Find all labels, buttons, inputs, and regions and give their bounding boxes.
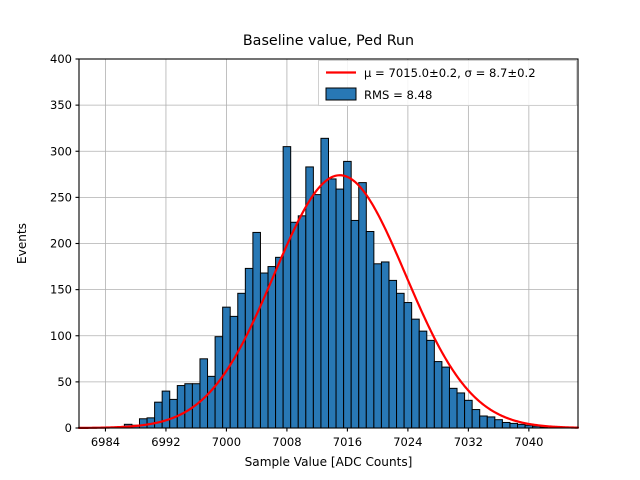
chart-figure: 69846992700070087016702470327040 0501001… <box>0 0 640 480</box>
x-tick-label: 7008 <box>272 435 301 449</box>
x-axis-label: Sample Value [ADC Counts] <box>245 455 413 469</box>
histogram-bar <box>155 402 163 428</box>
x-tick-label: 7040 <box>514 435 543 449</box>
histogram-bar <box>162 391 170 428</box>
x-tick-label: 7016 <box>333 435 362 449</box>
histogram-bar <box>253 232 261 428</box>
histogram-bar <box>457 393 465 428</box>
histogram-bar <box>480 416 488 428</box>
histogram-bar <box>170 399 178 428</box>
histogram-bar <box>185 384 193 428</box>
legend-label-gaussian: μ = 7015.0±0.2, σ = 8.7±0.2 <box>364 66 536 80</box>
histogram-bar <box>472 410 480 428</box>
legend-patch-marker-icon <box>326 88 356 100</box>
histogram-bar <box>230 316 238 428</box>
histogram-bar <box>336 189 344 428</box>
histogram-bar <box>359 183 367 428</box>
histogram-bar <box>381 262 389 428</box>
histogram-bar <box>502 422 510 428</box>
histogram-bar <box>268 267 276 428</box>
histogram-bar <box>434 362 442 428</box>
histogram-bar <box>487 417 495 428</box>
x-tick-label: 7000 <box>212 435 241 449</box>
y-tick-label: 50 <box>57 375 72 389</box>
x-tick-label: 6984 <box>91 435 120 449</box>
legend[interactable]: μ = 7015.0±0.2, σ = 8.7±0.2 RMS = 8.48 <box>319 61 577 106</box>
y-tick-label: 250 <box>50 190 72 204</box>
histogram-bar <box>374 264 382 428</box>
histogram-bar <box>389 280 397 428</box>
x-tick-label: 7032 <box>454 435 483 449</box>
histogram-bar <box>208 376 216 428</box>
histogram-bar <box>238 293 246 428</box>
histogram-bar <box>366 232 374 428</box>
histogram-bar <box>298 216 306 428</box>
legend-entry-rms[interactable]: RMS = 8.48 <box>326 88 432 102</box>
y-axis-label: Events <box>15 223 29 264</box>
histogram-bar <box>495 420 503 428</box>
y-tick-label: 200 <box>50 237 72 251</box>
chart-title: Baseline value, Ped Run <box>243 33 414 49</box>
histogram-bar <box>419 331 427 428</box>
y-tick-label: 300 <box>50 144 72 158</box>
y-tick-label: 150 <box>50 283 72 297</box>
histogram-bar <box>449 388 457 428</box>
histogram-bar <box>397 293 405 428</box>
histogram-bar <box>442 367 450 428</box>
histogram-bar <box>139 419 147 428</box>
histogram-bar <box>200 359 208 428</box>
y-tick-label: 100 <box>50 329 72 343</box>
histogram-bar <box>313 195 321 428</box>
histogram-bar <box>351 220 359 428</box>
x-tick-label: 6992 <box>151 435 180 449</box>
histogram-chart: 69846992700070087016702470327040 0501001… <box>0 0 640 480</box>
histogram-bar <box>177 386 185 428</box>
histogram-bar <box>283 147 291 428</box>
histogram-bar <box>465 400 473 428</box>
y-tick-label: 0 <box>65 421 72 435</box>
y-tick-label: 400 <box>50 52 72 66</box>
legend-label-rms: RMS = 8.48 <box>364 88 432 102</box>
histogram-bar <box>291 222 299 428</box>
histogram-bar <box>404 303 412 428</box>
histogram-bar <box>329 179 337 428</box>
histogram-bar <box>518 424 526 428</box>
histogram-bar <box>276 257 284 428</box>
histogram-bar <box>344 161 352 428</box>
histogram-bar <box>427 340 435 428</box>
histogram-bar <box>245 268 253 428</box>
histogram-bar <box>510 423 518 428</box>
y-tick-label: 350 <box>50 98 72 112</box>
histogram-bar <box>412 319 420 428</box>
x-tick-label: 7024 <box>393 435 422 449</box>
